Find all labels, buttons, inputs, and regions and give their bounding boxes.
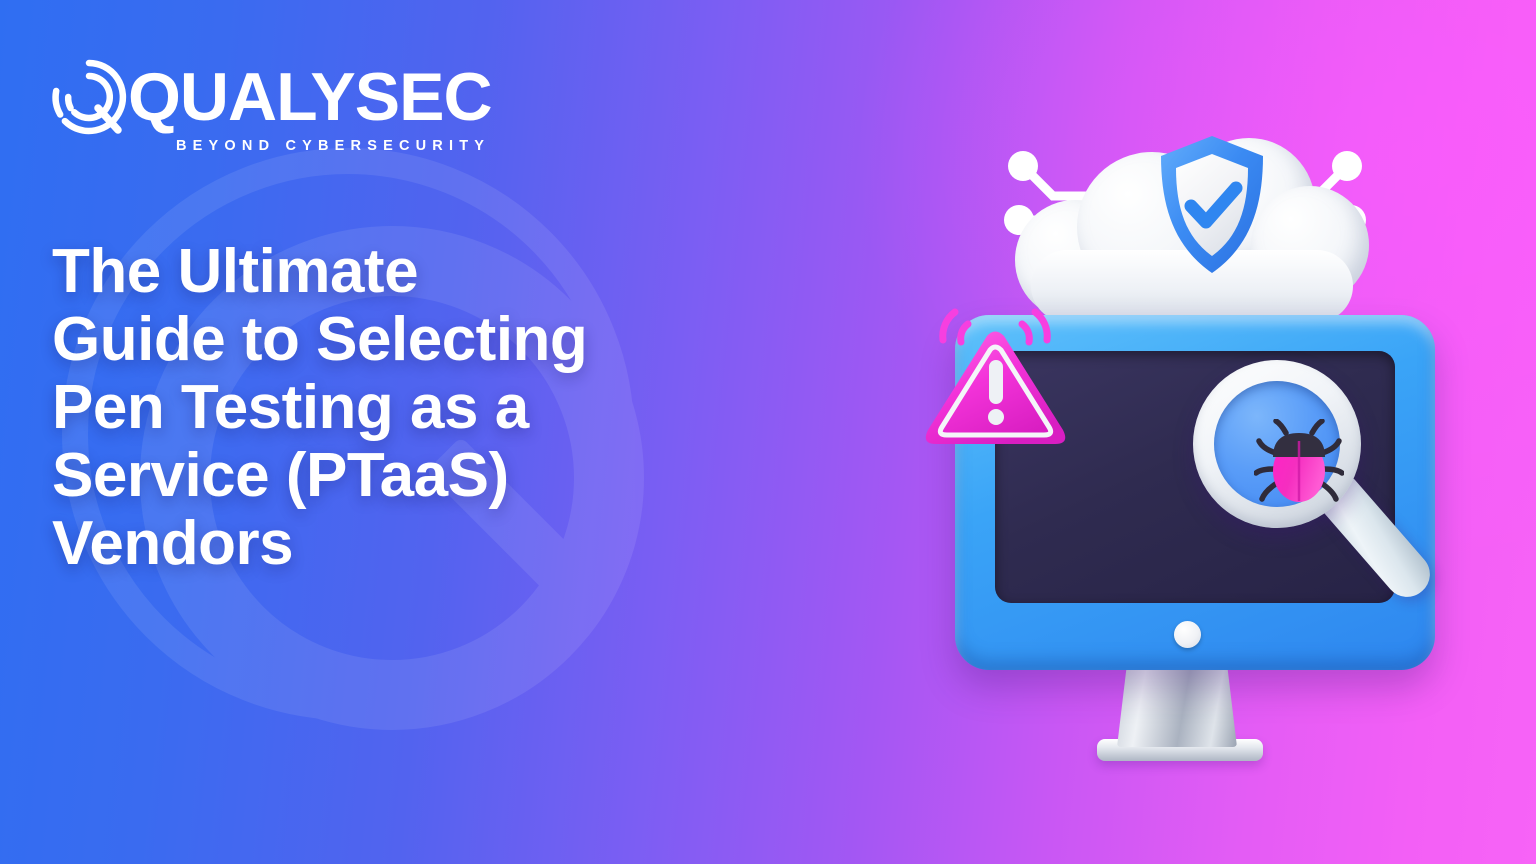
magnifier-ring [1193,360,1361,528]
magnifier-icon [1193,360,1413,610]
headline-line-4: Service (PTaaS) [52,442,812,510]
magnifier-lens [1214,381,1340,507]
brand-name: QUALYSEC [128,63,492,131]
headline-line-3: Pen Testing as a [52,374,812,442]
headline-line-1: The Ultimate [52,238,812,306]
qualysec-q-mark-icon [50,58,128,136]
brand-tagline: BEYOND CYBERSECURITY [176,138,490,154]
hero-illustration [905,110,1465,790]
brand-logo[interactable]: QUALYSEC BEYOND CYBERSECURITY [50,58,490,163]
headline-line-5: Vendors [52,510,812,578]
banner-canvas: QUALYSEC BEYOND CYBERSECURITY The Ultima… [0,0,1536,864]
warning-alert-icon [915,298,1083,458]
monitor-stand [1117,667,1237,747]
monitor-power-button[interactable] [1174,621,1201,648]
page-title: The Ultimate Guide to Selecting Pen Test… [52,238,812,579]
bug-icon [1254,419,1344,511]
headline-line-2: Guide to Selecting [52,306,812,374]
shield-check-icon [1153,132,1271,277]
